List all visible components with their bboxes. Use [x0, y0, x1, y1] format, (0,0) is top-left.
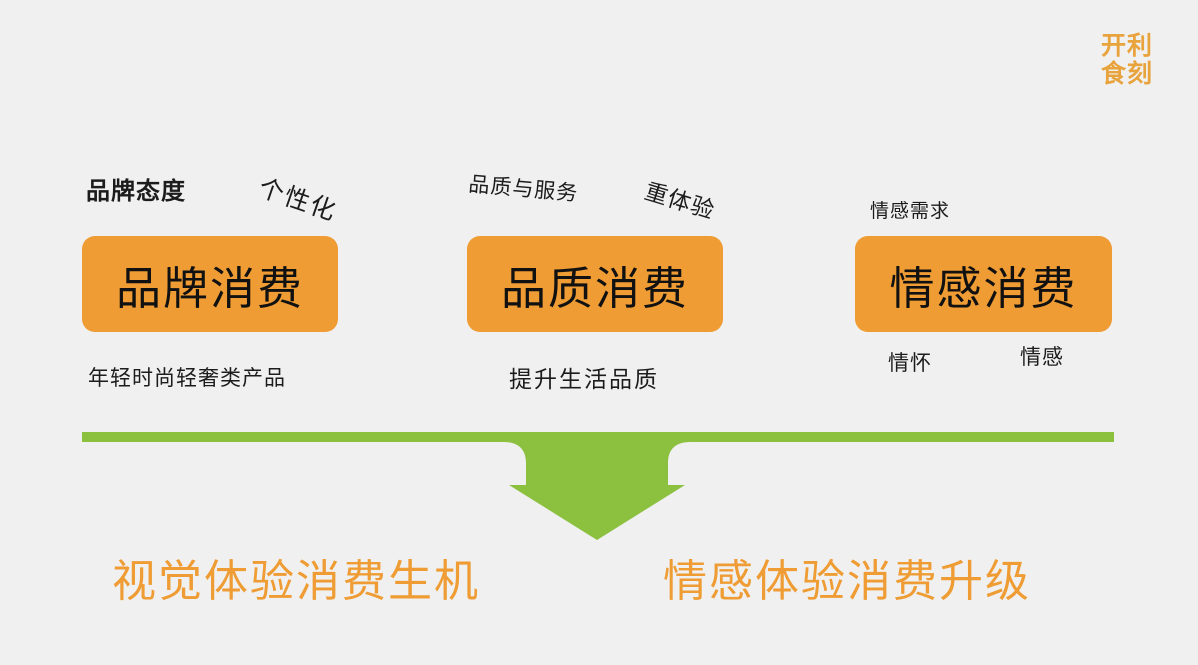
conclusion-visual-experience: 视觉体验消费生机 — [112, 545, 480, 609]
down-arrow-path — [82, 432, 1114, 540]
caption-brand-consumption: 年轻时尚轻奢类产品 — [88, 362, 286, 392]
brand-logo: 开利 食刻 — [1092, 32, 1162, 88]
pillar-box-brand-consumption: 品牌消费 — [82, 236, 338, 332]
label-value-experience: 重体验 — [641, 172, 720, 226]
label-emotion: 情感 — [1020, 341, 1064, 371]
down-arrow-icon — [78, 425, 1118, 550]
label-brand-attitude: 品牌态度 — [86, 171, 186, 206]
label-emotional-need: 情感需求 — [870, 196, 950, 223]
label-personalization: 个性化 — [254, 168, 342, 228]
label-quality-and-service: 品质与服务 — [467, 168, 579, 207]
slide-canvas: 开利 食刻 品牌态度 个性化 品牌消费 年轻时尚轻奢类产品 品质与服务 重体验 … — [0, 0, 1198, 665]
pillar-box-quality-consumption: 品质消费 — [467, 236, 723, 332]
conclusion-emotional-experience: 情感体验消费升级 — [663, 545, 1031, 609]
logo-line-1: 开利 — [1092, 32, 1162, 60]
caption-quality-consumption: 提升生活品质 — [509, 360, 659, 394]
logo-line-2: 食刻 — [1092, 60, 1162, 88]
pillar-box-emotional-consumption: 情感消费 — [855, 236, 1112, 332]
label-sentiment: 情怀 — [888, 347, 932, 377]
